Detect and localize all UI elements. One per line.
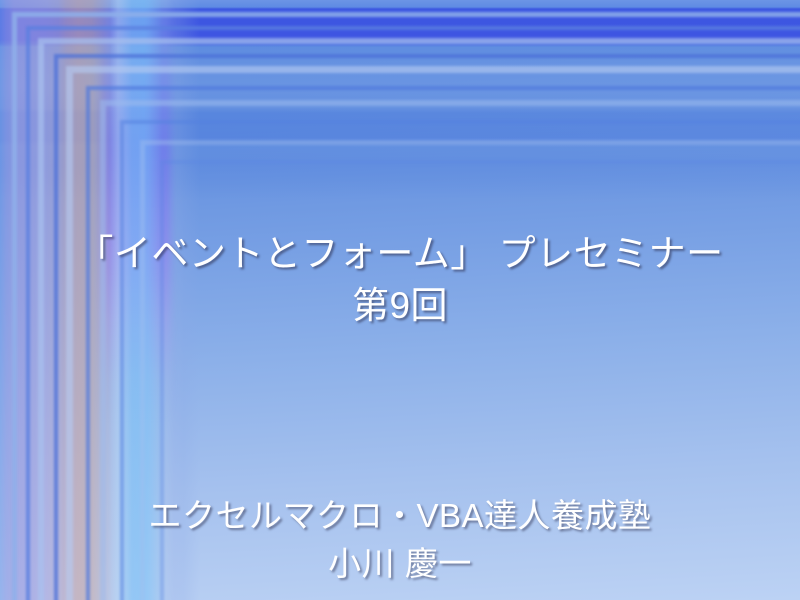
- subtitle-block: エクセルマクロ・VBA達人養成塾 小川 慶一: [0, 492, 800, 588]
- title-line-1: 「イベントとフォーム」 プレセミナー: [0, 228, 800, 280]
- subtitle-organization: エクセルマクロ・VBA達人養成塾: [0, 492, 800, 540]
- title-block: 「イベントとフォーム」 プレセミナー 第9回: [0, 228, 800, 332]
- title-slide: 「イベントとフォーム」 プレセミナー 第9回 エクセルマクロ・VBA達人養成塾 …: [0, 0, 800, 600]
- title-line-2: 第9回: [0, 280, 800, 332]
- subtitle-presenter-name: 小川 慶一: [0, 540, 800, 588]
